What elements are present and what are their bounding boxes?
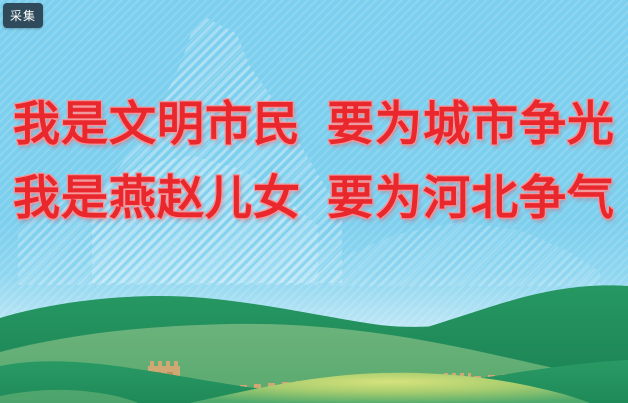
landscape-illustration (0, 0, 628, 403)
banner-poster: 我是文明市民要为城市争光 我是燕赵儿女要为河北争气 采集 (0, 0, 628, 403)
capture-button[interactable]: 采集 (3, 3, 43, 28)
